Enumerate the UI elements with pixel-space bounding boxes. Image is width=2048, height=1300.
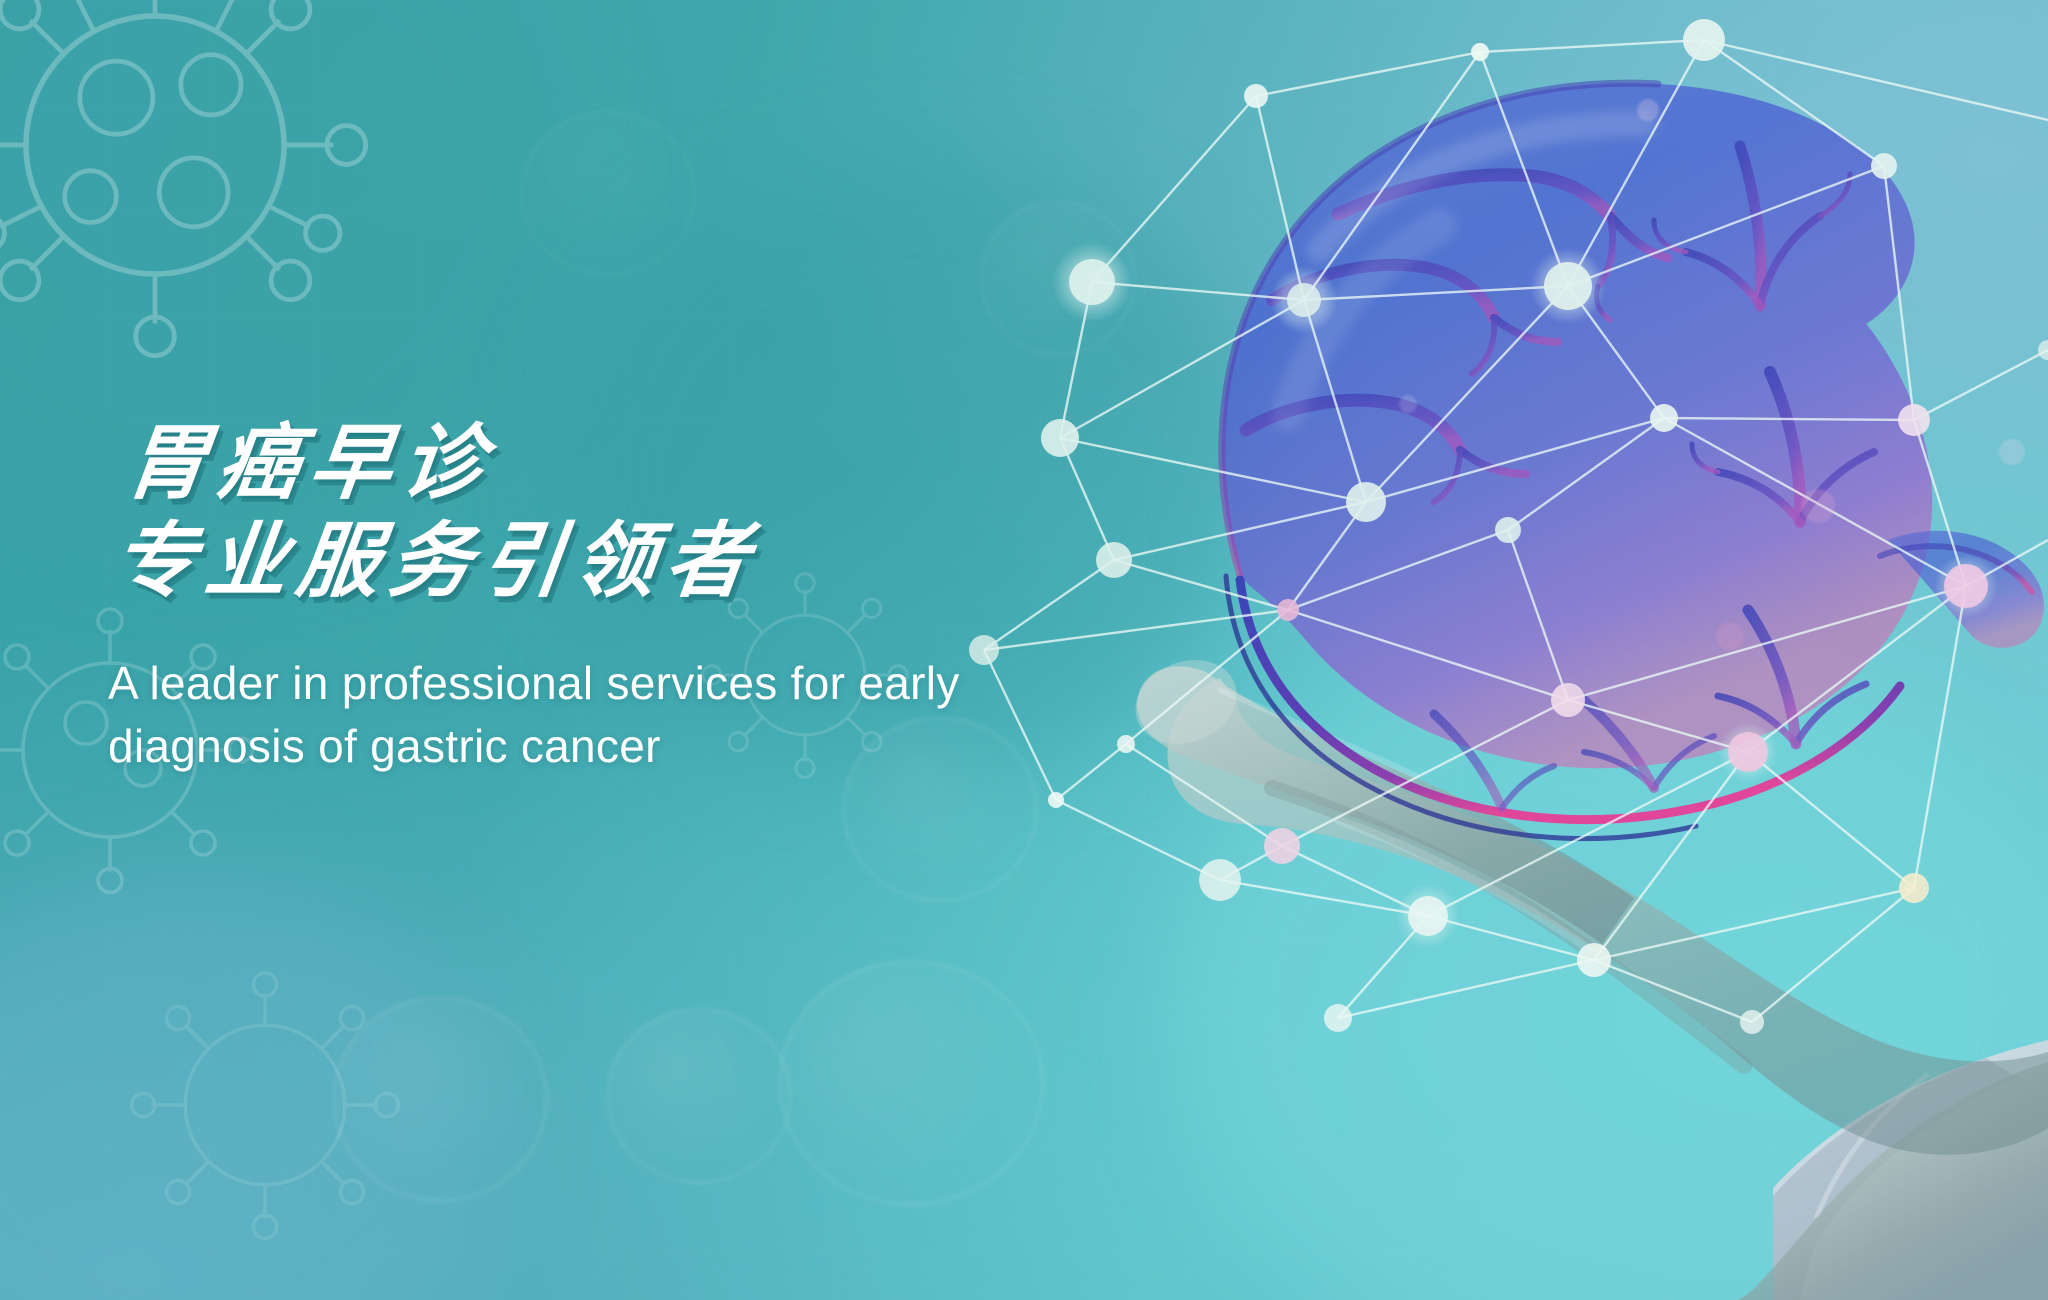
cell-ring-2 [606,1008,792,1184]
bokeh-dot [1801,489,1835,523]
network-node [1069,259,1115,305]
bokeh-dot [1399,395,1417,413]
virus-silhouette-bottom-left [120,960,410,1250]
banner-root: 胃癌早诊 专业服务引领者 A leader in professional se… [0,0,2048,1300]
network-node [1287,283,1321,317]
headline-line-1: 胃癌早诊 [120,418,1211,510]
network-node [1495,517,1521,543]
network-node [1264,828,1300,864]
network-node [1898,404,1930,436]
network-node [1324,1004,1352,1032]
cell-ring-4 [332,996,548,1202]
network-node [1244,84,1268,108]
subtitle-line-2: diagnosis of gastric cancer [108,715,1118,778]
headline: 胃癌早诊 专业服务引领者 [108,418,1211,608]
network-node [1471,43,1489,61]
network-node [1199,859,1241,901]
cell-ring-6 [520,110,696,276]
virus-silhouette-top-left [0,0,370,360]
bokeh-dot [1637,99,1659,121]
headline-line-2: 专业服务引领者 [108,516,1199,608]
bokeh-dot [1999,439,2025,465]
network-node [1048,792,1064,808]
glow-blob-3 [0,880,500,1300]
subtitle: A leader in professional services for ea… [108,652,1118,779]
network-node [1740,1010,1764,1034]
network-node [1944,564,1988,608]
copy-block: 胃癌早诊 专业服务引领者 A leader in professional se… [108,418,1188,779]
network-node [1346,482,1386,522]
network-node [1728,732,1768,772]
cell-ring-5 [980,200,1136,356]
network-node [1577,943,1611,977]
hand [1123,645,2048,1300]
stomach-organ [1222,83,2044,838]
network-node [1871,153,1897,179]
glow-blob-2 [1180,620,2048,1300]
network-node [1683,19,1725,61]
network-node [1277,599,1299,621]
bokeh-dot [1716,622,1744,650]
network-node [1551,683,1585,717]
cell-ring-1 [778,960,1044,1206]
network-node [1899,873,1929,903]
network-node [2038,340,2048,360]
network-node [1408,896,1448,936]
network-node [1544,262,1592,310]
lab-coat-sleeve [1773,1040,2048,1300]
network-node [1650,404,1678,432]
subtitle-line-1: A leader in professional services for ea… [108,652,1118,715]
